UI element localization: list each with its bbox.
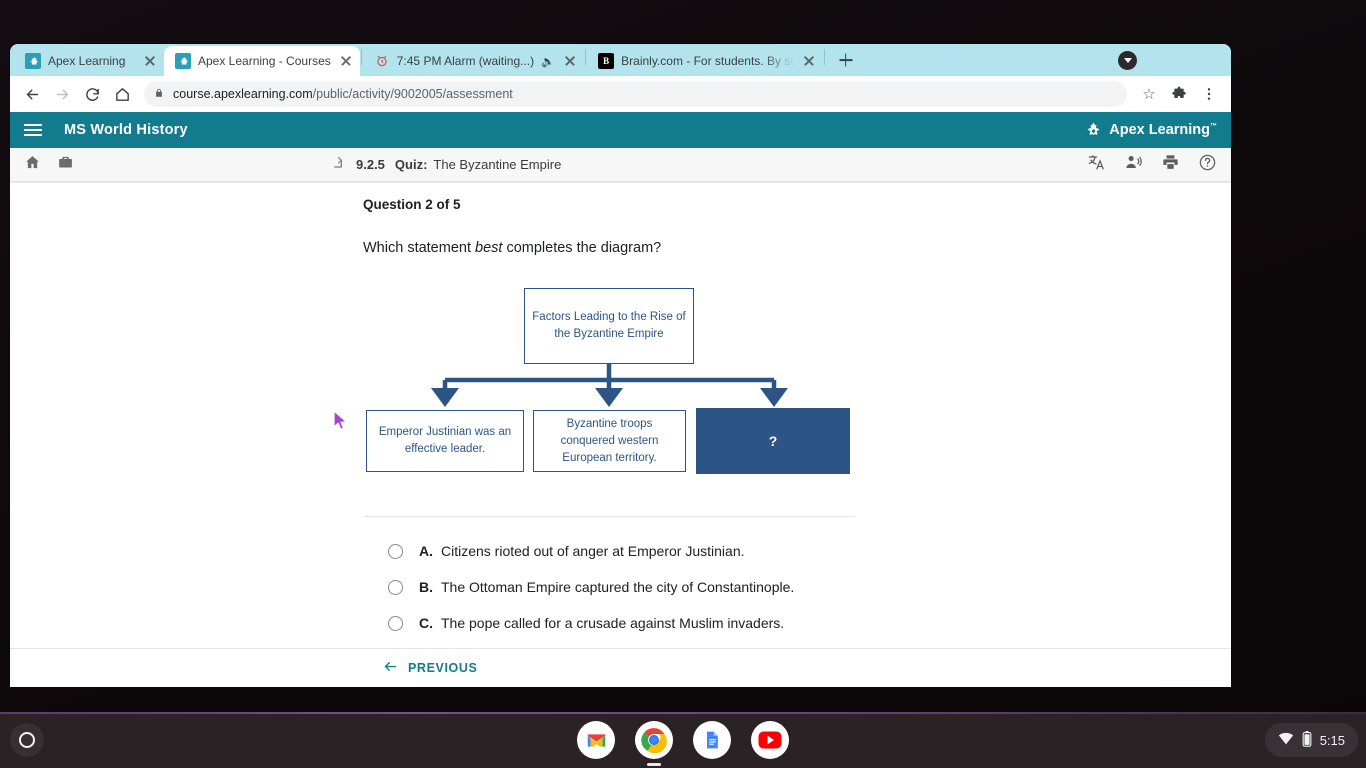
activity-toolbar-left [24,154,74,176]
answer-text-a: Citizens rioted out of anger at Emperor … [441,543,745,559]
trademark-symbol: ™ [1210,123,1217,130]
browser-toolbar: course.apexlearning.com/public/activity/… [10,76,1231,112]
diagram-top-box: Factors Leading to the Rise of the Byzan… [524,288,694,364]
answer-letter-b: B. [419,579,437,595]
activity-type: Quiz: [395,157,428,172]
diagram-child-box-1: Emperor Justinian was an effective leade… [366,410,524,472]
apex-icon [25,53,41,69]
apex-brand-label: Apex Learning [1109,122,1210,138]
answer-letter-c: C. [419,615,437,631]
radio-button-b[interactable] [388,580,403,595]
clock-time: 5:15 [1320,733,1345,748]
browser-tab-4[interactable]: B Brainly.com - For students. By st [587,46,823,76]
translate-icon[interactable] [1087,153,1106,177]
answer-text-c: The pope called for a crusade against Mu… [441,615,784,631]
forward-arrow-icon[interactable] [48,80,76,108]
activity-toolbar: 9.2.5 Quiz: The Byzantine Empire [10,148,1231,182]
chrome-app-icon[interactable] [635,721,673,759]
answer-text-b: The Ottoman Empire captured the city of … [441,579,794,595]
close-icon[interactable] [142,53,158,69]
browser-tab-label: Apex Learning - Courses [198,54,331,68]
apex-brand-name: Apex Learning™ [1109,122,1217,138]
shelf-app-list [577,721,789,759]
close-icon[interactable] [801,53,817,69]
diagram-child-box-3-unknown: ? [696,408,850,474]
home-icon[interactable] [108,80,136,108]
three-dot-menu-icon[interactable] [1195,80,1223,108]
url-text: course.apexlearning.com/public/activity/… [173,87,513,101]
browser-tab-label: 7:45 PM Alarm (waiting...) [397,54,534,68]
briefcase-icon[interactable] [57,154,74,176]
tab-strip: Apex Learning Apex Learning - Courses 7:… [10,44,1231,76]
answer-choice-d[interactable]: D. The Roman Empire became too big for o… [363,641,1231,648]
answer-choice-c[interactable]: C. The pope called for a crusade against… [363,605,1231,641]
lock-icon [154,87,164,102]
help-icon[interactable] [1198,153,1217,177]
activity-breadcrumb: 9.2.5 Quiz: The Byzantine Empire [330,155,561,174]
status-area[interactable]: 5:15 [1265,723,1358,757]
browser-window: Apex Learning Apex Learning - Courses 7:… [10,44,1231,687]
question-prompt: Which statement best completes the diagr… [363,240,1231,256]
lesson-number: 9.2.5 [356,157,385,172]
prompt-emphasis: best [475,240,502,256]
activity-title: The Byzantine Empire [433,157,561,172]
desktop-background: Apex Learning Apex Learning - Courses 7:… [0,0,1366,768]
chevron-down-icon [1124,58,1132,63]
new-tab-button[interactable] [832,46,860,74]
course-title: MS World History [64,122,188,138]
browser-tab-2[interactable]: Apex Learning - Courses [164,46,360,76]
launcher-button[interactable] [10,723,44,757]
answer-choice-b[interactable]: B. The Ottoman Empire captured the city … [363,569,1231,605]
url-path: /public/activity/9002005/assessment [313,87,513,101]
page-content: MS World History Apex Learning™ [10,112,1231,687]
system-shelf: 5:15 [0,712,1366,768]
gmail-app-icon[interactable] [577,721,615,759]
apex-header: MS World History Apex Learning™ [10,112,1231,148]
answer-letter-a: A. [419,543,437,559]
browser-tab-label: Apex Learning [48,54,135,68]
docs-app-icon[interactable] [693,721,731,759]
close-icon[interactable] [562,53,578,69]
prompt-part-1: Which statement [363,240,475,256]
shelf-accent-strip [0,712,1366,714]
tab-divider [361,49,362,65]
star-icon[interactable]: ☆ [1135,80,1163,108]
question-counter: Question 2 of 5 [363,197,1231,212]
close-icon[interactable] [338,53,354,69]
read-aloud-icon[interactable] [1124,153,1143,177]
url-host: course.apexlearning.com [173,87,313,101]
activity-toolbar-right [1087,153,1217,177]
alarm-clock-icon [374,53,390,69]
browser-tab-label: Brainly.com - For students. By st [621,54,794,68]
prompt-part-2: completes the diagram? [502,240,661,256]
previous-button[interactable]: PREVIOUS [382,659,477,677]
mouse-cursor [332,410,350,432]
battery-icon [1302,731,1312,750]
wifi-icon [1278,732,1294,748]
brainly-icon: B [598,53,614,69]
apex-brand: Apex Learning™ [1083,121,1217,139]
return-arrow-icon[interactable] [330,155,346,174]
home-icon[interactable] [24,154,41,176]
question-body: Question 2 of 5 Which statement best com… [10,182,1231,648]
mute-icon[interactable]: 🔈 [541,55,555,68]
browser-tab-3[interactable]: 7:45 PM Alarm (waiting...) 🔈 [363,46,584,76]
previous-button-label: PREVIOUS [408,661,477,675]
tab-divider [824,49,825,65]
browser-tab-1[interactable]: Apex Learning [14,46,164,76]
diagram-child-box-2: Byzantine troops conquered western Europ… [533,410,686,472]
divider [365,516,855,517]
answer-choices: A. Citizens rioted out of anger at Emper… [363,533,1231,648]
radio-button-c[interactable] [388,616,403,631]
toolbar-right-actions: ☆ [1135,80,1223,108]
print-icon[interactable] [1161,153,1180,177]
back-arrow-icon [382,659,399,677]
reload-icon[interactable] [78,80,106,108]
radio-button-a[interactable] [388,544,403,559]
tab-divider [585,49,586,65]
hamburger-menu-icon[interactable] [24,124,42,136]
question-footer: PREVIOUS [10,648,1231,687]
launcher-icon [19,732,35,748]
address-bar[interactable]: course.apexlearning.com/public/activity/… [144,81,1127,107]
answer-choice-a[interactable]: A. Citizens rioted out of anger at Emper… [363,533,1231,569]
apex-logo-icon [1083,121,1103,139]
back-arrow-icon[interactable] [18,80,46,108]
profile-avatar[interactable] [1118,51,1137,70]
youtube-app-icon[interactable] [751,721,789,759]
question-diagram: Factors Leading to the Rise of the Byzan… [365,283,865,488]
apex-icon [175,53,191,69]
puzzle-icon[interactable] [1165,80,1193,108]
